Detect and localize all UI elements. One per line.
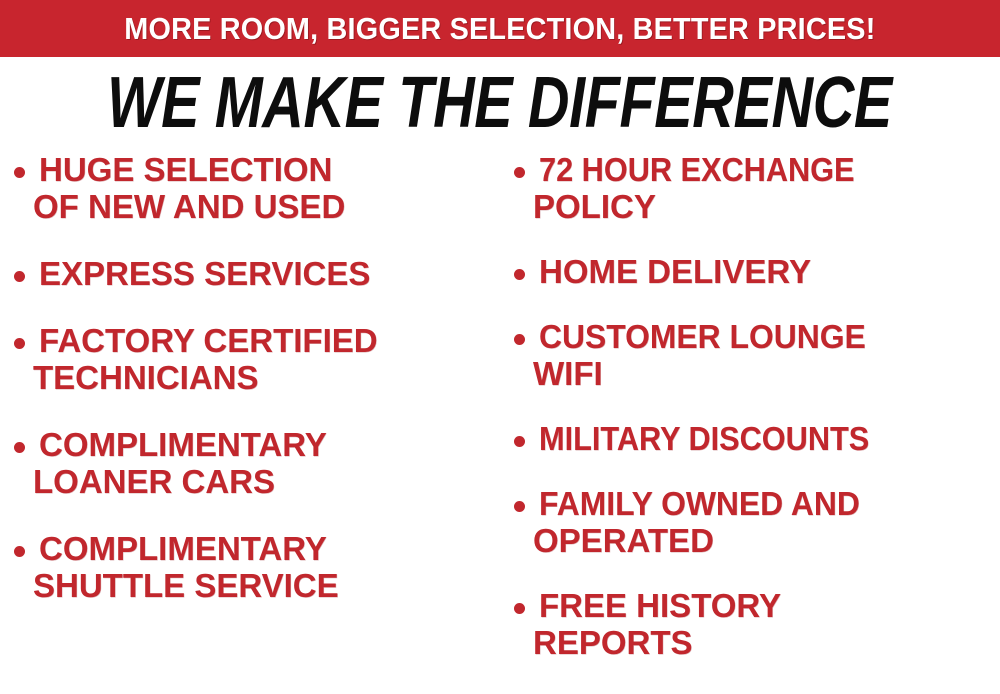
list-item: COMPLIMENTARY LOANER CARS [14, 427, 504, 501]
bullet-dot-icon [14, 338, 25, 349]
list-item-text: FACTORY CERTIFIED TECHNICIANS [39, 323, 504, 397]
list-item-line: TECHNICIANS [33, 360, 504, 397]
list-item: MILITARY DISCOUNTS [514, 421, 1000, 458]
bullet-dot-icon [14, 167, 25, 178]
list-item-line: FACTORY CERTIFIED [39, 323, 504, 360]
bullet-dot-icon [14, 546, 25, 557]
promo-banner: MORE ROOM, BIGGER SELECTION, BETTER PRIC… [0, 0, 1000, 57]
list-item-text: MILITARY DISCOUNTS [539, 421, 1000, 458]
list-item-text: CUSTOMER LOUNGE WIFI [539, 319, 1000, 393]
list-item-text: FAMILY OWNED AND OPERATED [539, 486, 1000, 560]
list-item-text: COMPLIMENTARY SHUTTLE SERVICE [39, 531, 504, 605]
bullet-dot-icon [514, 269, 525, 280]
bullet-dot-icon [14, 271, 25, 282]
list-item-line: LOANER CARS [33, 464, 504, 501]
bullet-dot-icon [14, 442, 25, 453]
list-item-line: OF NEW AND USED [33, 189, 504, 226]
list-item-line: POLICY [533, 189, 1000, 226]
list-item: COMPLIMENTARY SHUTTLE SERVICE [14, 531, 504, 605]
list-item-line: SHUTTLE SERVICE [33, 568, 504, 605]
list-item-text: HOME DELIVERY [539, 254, 1000, 291]
list-item-line: COMPLIMENTARY [39, 427, 504, 464]
feature-columns: HUGE SELECTION OF NEW AND USED EXPRESS S… [0, 152, 1000, 694]
list-item-text: 72 HOUR EXCHANGE POLICY [539, 152, 1000, 226]
list-item-line: HOME DELIVERY [539, 254, 1000, 291]
list-item-text: FREE HISTORY REPORTS [539, 588, 1000, 662]
bullet-dot-icon [514, 501, 525, 512]
list-item-line: EXPRESS SERVICES [39, 256, 504, 293]
list-item-line: FAMILY OWNED AND [539, 486, 860, 523]
bullet-dot-icon [514, 334, 525, 345]
list-item-text: HUGE SELECTION OF NEW AND USED [39, 152, 504, 226]
bullet-dot-icon [514, 603, 525, 614]
bullet-dot-icon [514, 167, 525, 178]
list-item: FACTORY CERTIFIED TECHNICIANS [14, 323, 504, 397]
list-item-text: EXPRESS SERVICES [39, 256, 504, 293]
feature-column-right: 72 HOUR EXCHANGE POLICY HOME DELIVERY CU… [514, 152, 1000, 690]
list-item-line: REPORTS [533, 625, 1000, 662]
list-item-line: HUGE SELECTION [39, 152, 504, 189]
list-item-line: 72 HOUR EXCHANGE [539, 152, 854, 189]
list-item: HUGE SELECTION OF NEW AND USED [14, 152, 504, 226]
list-item-text: COMPLIMENTARY LOANER CARS [39, 427, 504, 501]
list-item: HOME DELIVERY [514, 254, 1000, 291]
list-item-line: MILITARY DISCOUNTS [539, 421, 869, 458]
list-item: CUSTOMER LOUNGE WIFI [514, 319, 1000, 393]
list-item-line: CUSTOMER LOUNGE [539, 319, 866, 356]
list-item: FAMILY OWNED AND OPERATED [514, 486, 1000, 560]
list-item-line: WIFI [533, 356, 1000, 393]
list-item-line: FREE HISTORY [539, 588, 1000, 625]
list-item: EXPRESS SERVICES [14, 256, 504, 293]
headline-container: WE MAKE THE DIFFERENCE [0, 62, 1000, 144]
page-title: WE MAKE THE DIFFERENCE [108, 67, 893, 139]
list-item: FREE HISTORY REPORTS [514, 588, 1000, 662]
promo-banner-text: MORE ROOM, BIGGER SELECTION, BETTER PRIC… [124, 11, 875, 47]
list-item-line: COMPLIMENTARY [39, 531, 504, 568]
bullet-dot-icon [514, 436, 525, 447]
feature-column-left: HUGE SELECTION OF NEW AND USED EXPRESS S… [14, 152, 504, 635]
list-item-line: OPERATED [533, 523, 1000, 560]
list-item: 72 HOUR EXCHANGE POLICY [514, 152, 1000, 226]
